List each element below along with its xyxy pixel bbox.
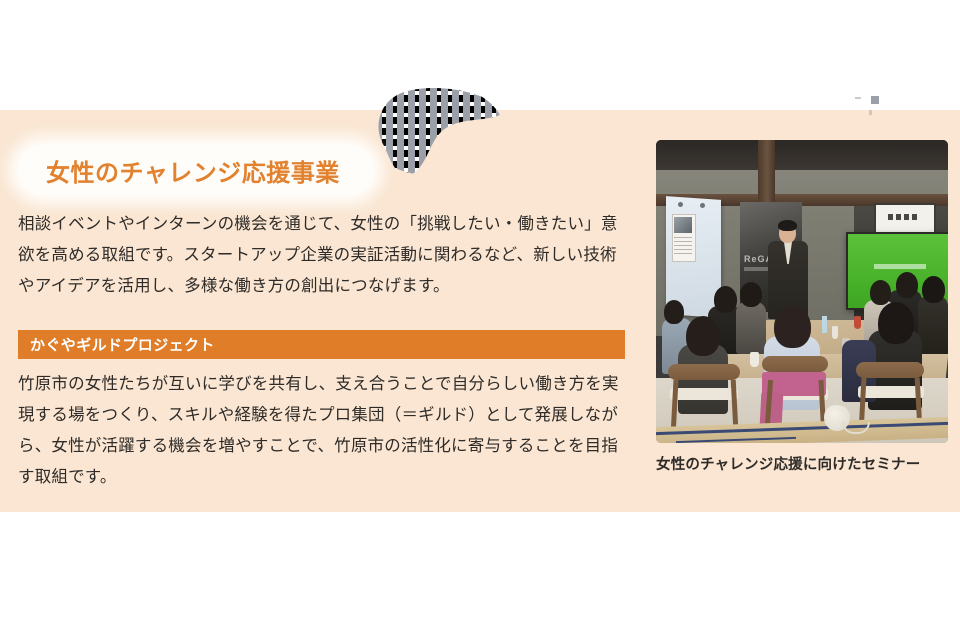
photo-attendee-head [714, 286, 737, 313]
photo-presenter-hair [778, 220, 797, 231]
page-title: 女性のチャレンジ応援事業 [46, 153, 340, 188]
photo-chair-back [856, 362, 924, 378]
photo-cup [750, 352, 759, 367]
photo-chair-seat [858, 386, 924, 398]
photo-foreground-attendee-head [774, 306, 811, 348]
seminar-photo-image: ReGACY [656, 140, 948, 443]
photo-poster-text [674, 237, 692, 255]
dot-speck-icon [871, 96, 879, 104]
photo-chair-back [762, 356, 828, 372]
photo-attendee-torso [736, 302, 766, 354]
photo-cup [832, 326, 838, 339]
photo-whiteboard-clip [700, 203, 705, 208]
photo-attendee-head [896, 272, 918, 298]
photo-cup [854, 316, 861, 329]
subsection-paragraph: 竹原市の女性たちが互いに学びを共有し、支え合うことで自分らしい働き方を実現する場… [18, 369, 628, 493]
photo-framed-sign-text [888, 214, 918, 220]
photo-attendee-head [870, 280, 891, 305]
photo-vertical-beam [758, 140, 775, 206]
dot-speck-icon [855, 97, 861, 99]
subsection-heading-label: かぐやギルドプロジェクト [18, 334, 215, 355]
photo-foreground-attendee-head [878, 302, 914, 344]
section-title-badge: 女性のチャレンジ応援事業 [18, 145, 374, 195]
photo-whiteboard-clip [678, 202, 683, 207]
subsection-heading-bar: かぐやギルドプロジェクト [18, 330, 625, 359]
seminar-photo: ReGACY [656, 140, 948, 443]
photo-water-bottle [822, 316, 827, 333]
photo-attendee-torso [918, 296, 948, 358]
photo-poster-image [674, 217, 692, 233]
photo-attendee-head [664, 300, 684, 324]
photo-caption: 女性のチャレンジ応援に向けたセミナー [656, 453, 956, 474]
intro-paragraph: 相談イベントやインターンの機会を通じて、女性の「挑戦したい・働きたい」意欲を高め… [18, 209, 628, 302]
photo-green-screen-caption [874, 264, 926, 269]
photo-foreground-attendee-head [686, 316, 720, 356]
photo-chair-back [668, 364, 740, 380]
photo-attendee-head [922, 276, 945, 303]
photo-chair-seat [670, 388, 738, 400]
photo-ceiling [656, 140, 948, 170]
dot-speck-icon [869, 110, 872, 115]
photo-attendee-head [740, 282, 762, 307]
